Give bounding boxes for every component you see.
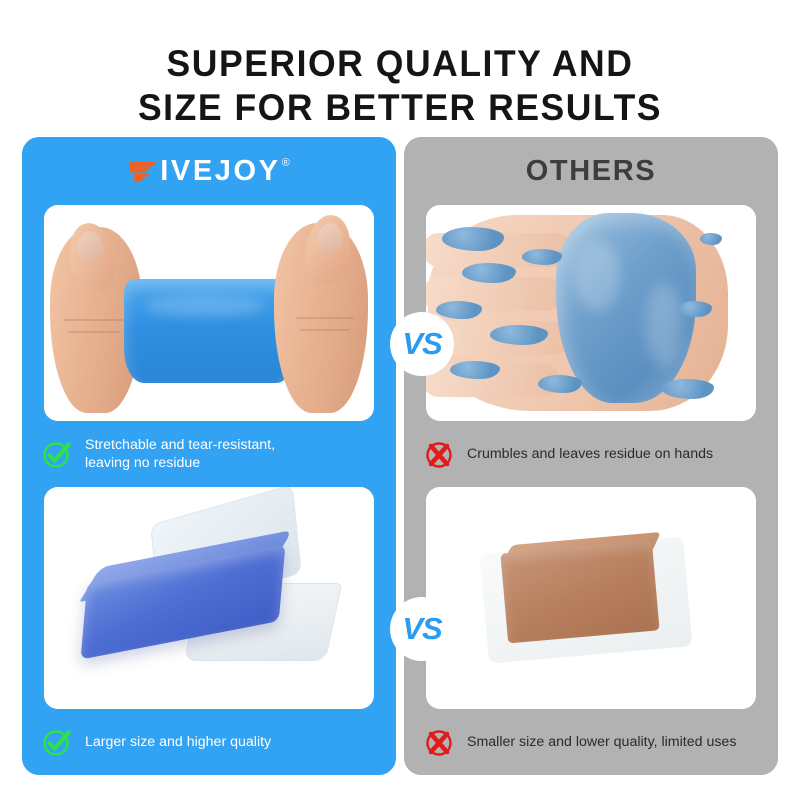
knuckle-line bbox=[296, 317, 354, 319]
brand-name: IVEJOY bbox=[160, 157, 280, 186]
versus-badge-top: VS bbox=[390, 312, 454, 376]
registered-mark: ® bbox=[282, 158, 290, 169]
red-cross-icon bbox=[424, 439, 454, 469]
others-image-crumbles bbox=[426, 205, 756, 421]
comparison-container: IVEJOY ® bbox=[22, 137, 778, 775]
brand-panel: IVEJOY ® bbox=[22, 137, 396, 775]
versus-badge-bottom-label: VS bbox=[402, 611, 441, 647]
brand-caption-2-text: Larger size and higher quality bbox=[85, 733, 271, 751]
blue-clay-bar-shape bbox=[124, 279, 296, 383]
green-check-icon bbox=[42, 439, 72, 469]
versus-badge-top-label: VS bbox=[402, 326, 441, 362]
f-arrow-mark-icon bbox=[128, 159, 158, 185]
others-title: OTHERS bbox=[526, 155, 656, 188]
clay-crumb bbox=[678, 301, 712, 317]
clay-clump-shape bbox=[556, 213, 696, 403]
others-image-wrapped-bar bbox=[426, 487, 756, 709]
others-panel-header: OTHERS bbox=[404, 137, 778, 205]
brand-caption-2: Larger size and higher quality bbox=[22, 709, 396, 775]
page-title-line-1: SUPERIOR QUALITY AND bbox=[16, 42, 784, 86]
photo-messy-hand-residue bbox=[426, 205, 756, 421]
caption-line-1: Stretchable and tear-resistant, bbox=[85, 437, 275, 453]
others-caption-1: Crumbles and leaves residue on hands bbox=[404, 421, 778, 487]
right-thumb-shape bbox=[301, 212, 354, 287]
red-cross-icon bbox=[424, 727, 454, 757]
photo-clay-bar-with-case bbox=[44, 487, 374, 709]
others-panel: OTHERS bbox=[404, 137, 778, 775]
versus-badge-bottom: VS bbox=[390, 597, 454, 661]
left-thumb-shape bbox=[65, 220, 119, 296]
right-hand-shape bbox=[274, 223, 368, 413]
right-thumbnail-shape bbox=[315, 221, 345, 254]
caption-line-2: leaving no residue bbox=[85, 455, 200, 471]
left-thumbnail-shape bbox=[75, 229, 105, 263]
clay-crumb bbox=[538, 375, 582, 393]
others-caption-2: Smaller size and lower quality, limited … bbox=[404, 709, 778, 775]
knuckle-line bbox=[300, 329, 350, 331]
clay-crumb bbox=[522, 249, 562, 265]
brand-caption-1: Stretchable and tear-resistant, leaving … bbox=[22, 421, 396, 487]
brand-panel-header: IVEJOY ® bbox=[22, 137, 396, 205]
photo-small-tan-clay-bar bbox=[426, 487, 756, 709]
small-tan-clay-bar-shape bbox=[500, 541, 659, 644]
page-title-line-2: SIZE FOR BETTER RESULTS bbox=[16, 86, 784, 130]
page-title: SUPERIOR QUALITY AND SIZE FOR BETTER RES… bbox=[0, 42, 800, 130]
others-caption-2-text: Smaller size and lower quality, limited … bbox=[467, 733, 736, 751]
photo-hands-stretching-clay bbox=[44, 205, 374, 421]
knuckle-line bbox=[68, 331, 120, 333]
brand-image-bar-case bbox=[44, 487, 374, 709]
fivejoy-logo: IVEJOY ® bbox=[128, 157, 289, 186]
knuckle-line bbox=[64, 319, 124, 321]
others-caption-1-text: Crumbles and leaves residue on hands bbox=[467, 445, 713, 463]
clay-crumb bbox=[436, 301, 482, 319]
clay-crumb bbox=[700, 233, 722, 245]
brand-image-stretch bbox=[44, 205, 374, 421]
brand-caption-1-text: Stretchable and tear-resistant, leaving … bbox=[85, 436, 275, 472]
green-check-icon bbox=[42, 727, 72, 757]
